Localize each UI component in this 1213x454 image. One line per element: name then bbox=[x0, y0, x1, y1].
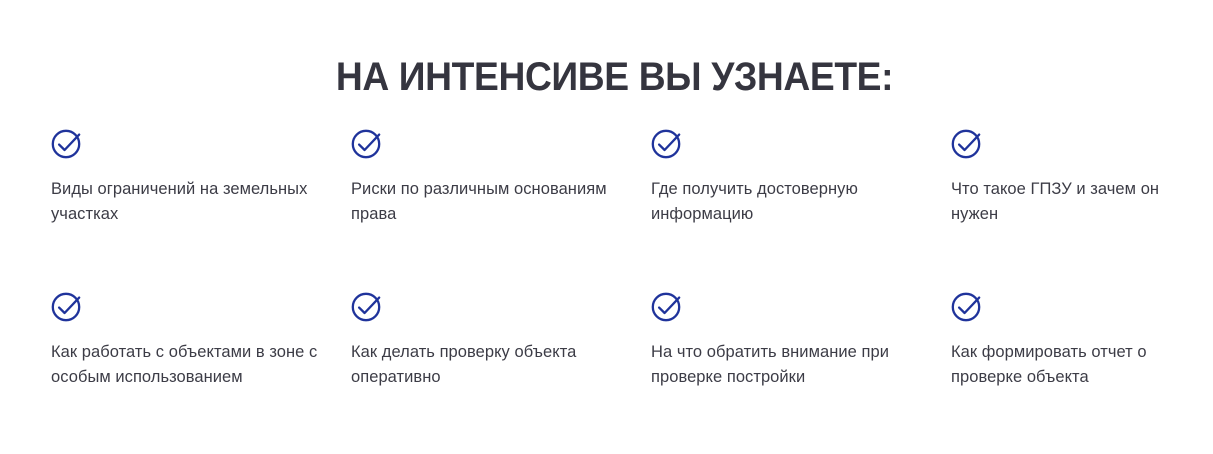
page-title: НА ИНТЕНСИВЕ ВЫ УЗНАЕТЕ: bbox=[50, 53, 1178, 101]
benefit-item: Где получить достоверную информацию bbox=[651, 128, 951, 291]
benefit-item-label: Как работать с объектами в зоне с особым… bbox=[51, 340, 321, 390]
benefit-item-label: Где получить достоверную информацию bbox=[651, 177, 921, 227]
check-circle-icon bbox=[651, 128, 682, 159]
check-circle-icon bbox=[351, 128, 382, 159]
benefit-item: Риски по различным основаниям права bbox=[351, 128, 651, 291]
benefit-item: На что обратить внимание при проверке по… bbox=[651, 291, 951, 454]
check-circle-icon bbox=[651, 291, 682, 322]
benefit-item-label: Виды ограничений на земельных участках bbox=[51, 177, 321, 227]
benefit-item: Как формировать отчет о проверке объекта bbox=[951, 291, 1213, 454]
benefits-grid: Виды ограничений на земельных участках Р… bbox=[51, 128, 1161, 454]
benefit-item: Как делать проверку объекта оперативно bbox=[351, 291, 651, 454]
check-circle-icon bbox=[351, 291, 382, 322]
check-circle-icon bbox=[951, 128, 982, 159]
benefit-item-label: На что обратить внимание при проверке по… bbox=[651, 340, 921, 390]
check-circle-icon bbox=[51, 291, 82, 322]
benefit-item-label: Риски по различным основаниям права bbox=[351, 177, 621, 227]
benefit-item: Как работать с объектами в зоне с особым… bbox=[51, 291, 351, 454]
benefit-item-label: Как формировать отчет о проверке объекта bbox=[951, 340, 1201, 390]
benefit-item-label: Что такое ГПЗУ и зачем он нужен bbox=[951, 177, 1201, 227]
check-circle-icon bbox=[951, 291, 982, 322]
benefit-item: Что такое ГПЗУ и зачем он нужен bbox=[951, 128, 1213, 291]
benefit-item-label: Как делать проверку объекта оперативно bbox=[351, 340, 621, 390]
benefit-item: Виды ограничений на земельных участках bbox=[51, 128, 351, 291]
check-circle-icon bbox=[51, 128, 82, 159]
benefits-section: НА ИНТЕНСИВЕ ВЫ УЗНАЕТЕ: Виды ограничени… bbox=[0, 0, 1213, 449]
